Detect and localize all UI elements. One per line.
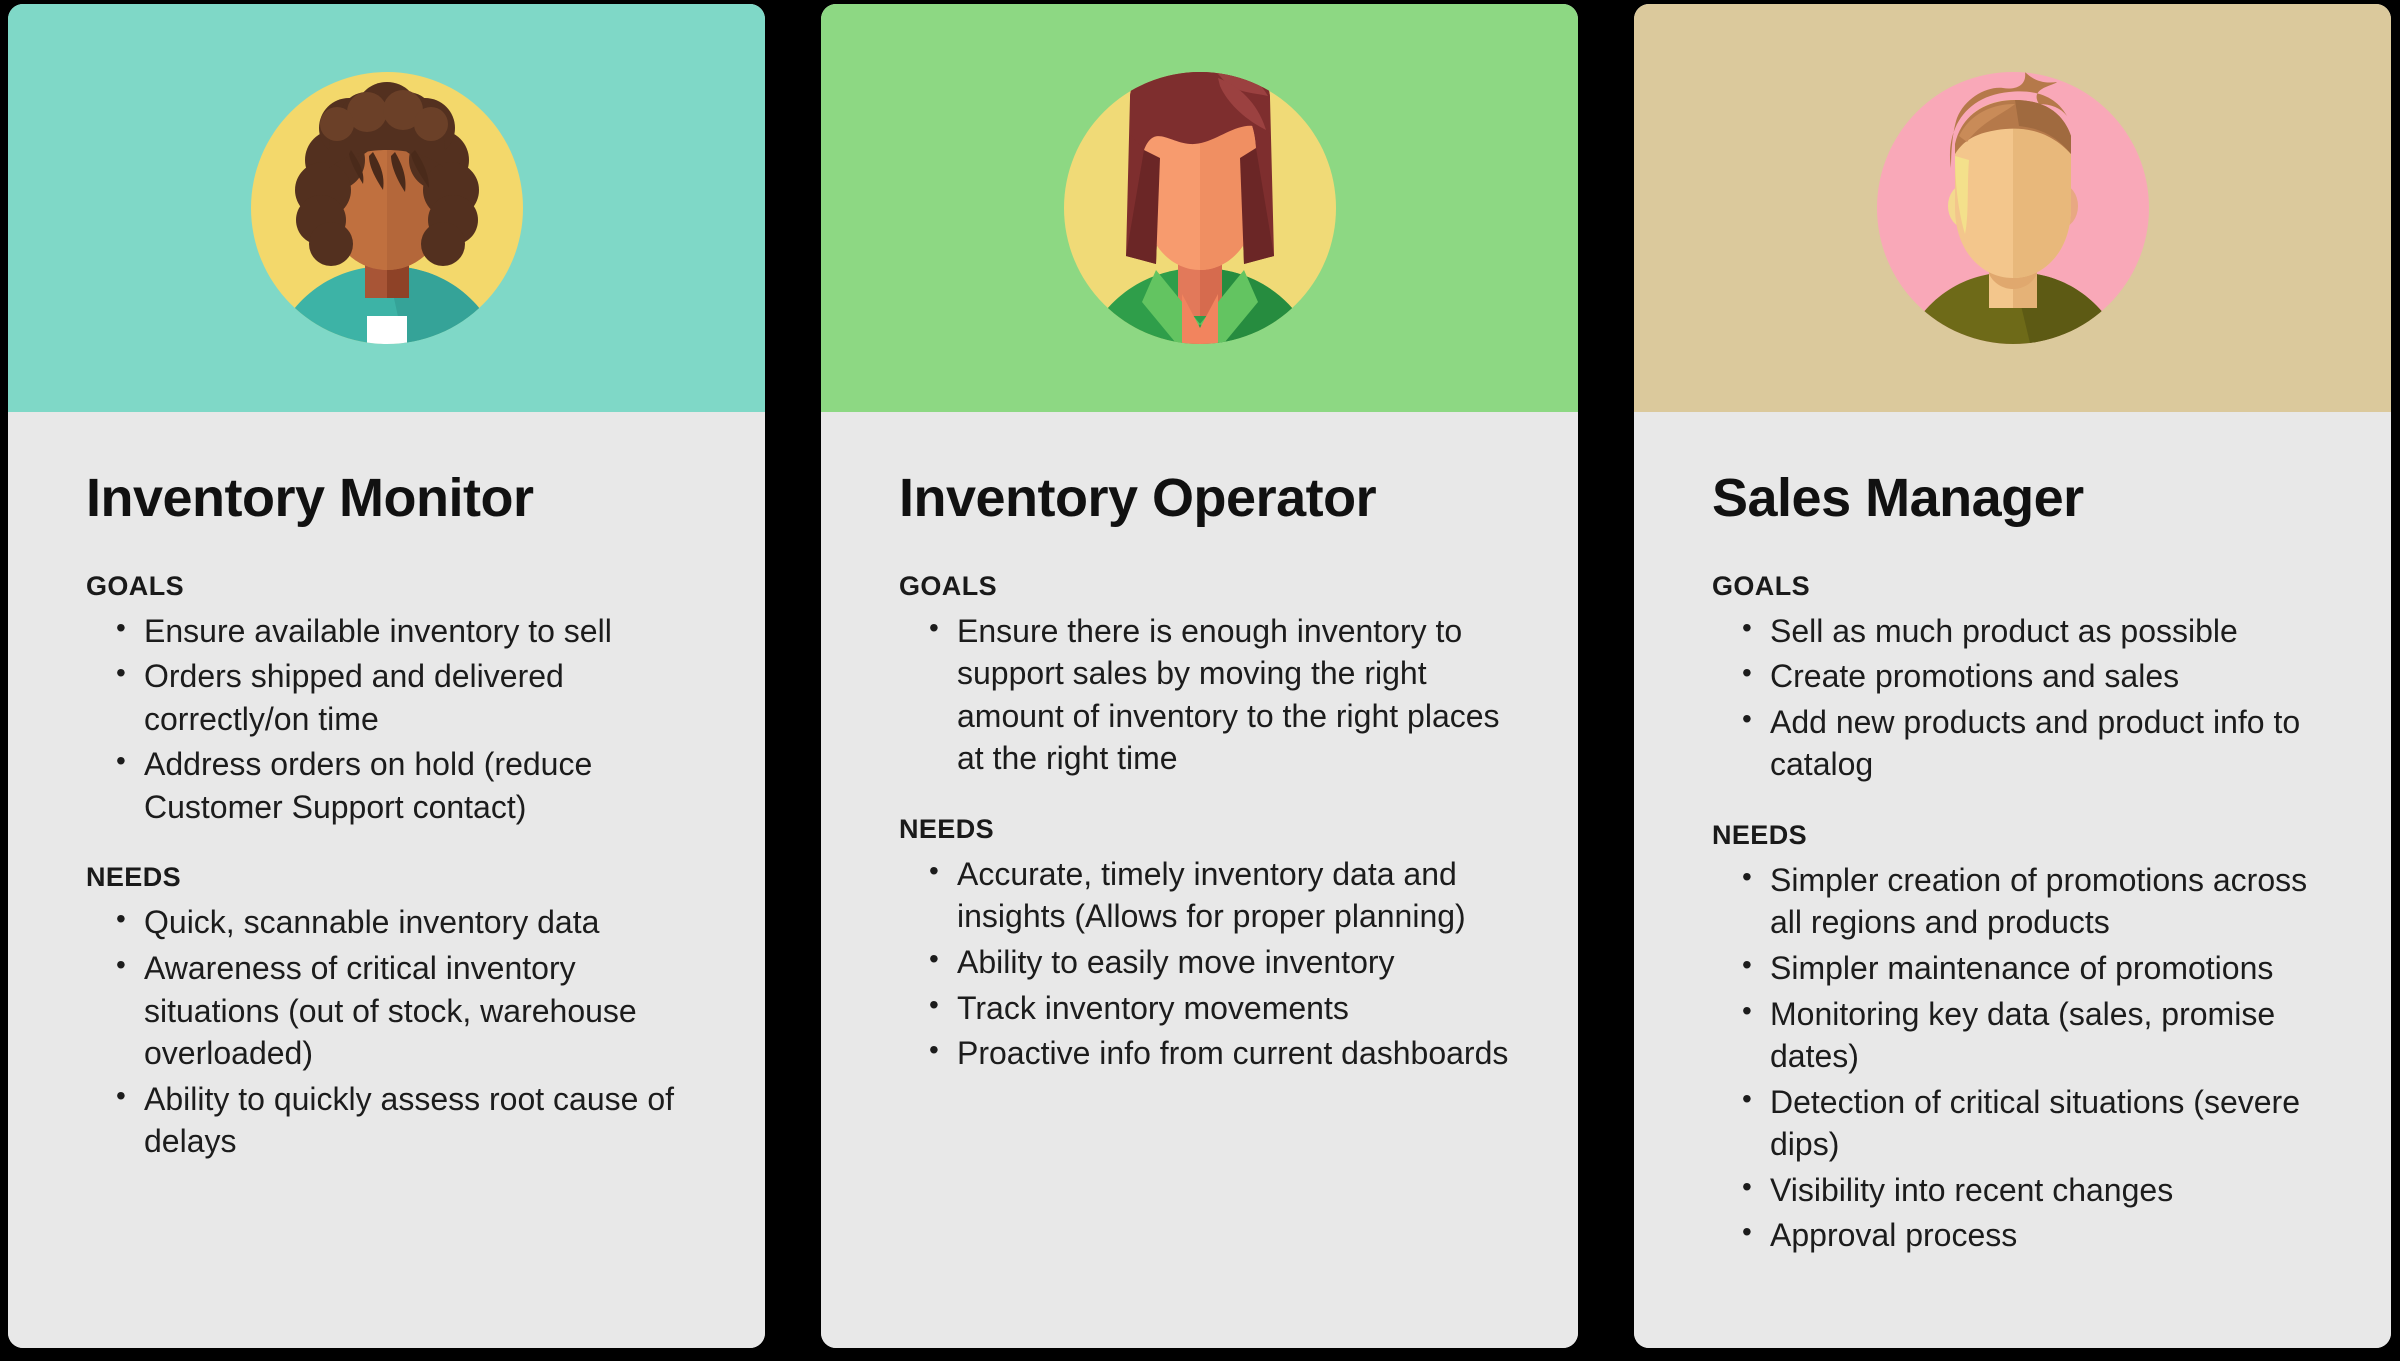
section-label-needs: NEEDS	[899, 814, 1516, 845]
list-item: Ensure there is enough inventory to supp…	[929, 610, 1516, 780]
list-item: Monitoring key data (sales, promise date…	[1742, 993, 2329, 1078]
card-body-inventory-monitor: Inventory Monitor GOALS Ensure available…	[8, 412, 765, 1348]
goals-list: Ensure there is enough inventory to supp…	[899, 610, 1516, 780]
list-item: Simpler creation of promotions across al…	[1742, 859, 2329, 944]
card-body-inventory-operator: Inventory Operator GOALS Ensure there is…	[821, 412, 1578, 1348]
persona-card-sales-manager[interactable]: Sales Manager GOALS Sell as much product…	[1634, 4, 2391, 1348]
avatar-woman-bob-hair-icon	[1030, 38, 1370, 378]
card-body-sales-manager: Sales Manager GOALS Sell as much product…	[1634, 412, 2391, 1348]
list-item: Visibility into recent changes	[1742, 1169, 2329, 1212]
section-needs: NEEDS Quick, scannable inventory data Aw…	[86, 862, 703, 1162]
list-item: Approval process	[1742, 1214, 2329, 1257]
section-label-goals: GOALS	[1712, 571, 2329, 602]
needs-list: Simpler creation of promotions across al…	[1712, 859, 2329, 1257]
list-item: Address orders on hold (reduce Customer …	[116, 743, 703, 828]
section-goals: GOALS Ensure available inventory to sell…	[86, 571, 703, 829]
list-item: Sell as much product as possible	[1742, 610, 2329, 653]
persona-card-inventory-operator[interactable]: Inventory Operator GOALS Ensure there is…	[821, 4, 1578, 1348]
card-header-inventory-operator	[821, 4, 1578, 412]
card-header-sales-manager	[1634, 4, 2391, 412]
avatar-woman-curly-hair-icon	[217, 38, 557, 378]
card-header-inventory-monitor	[8, 4, 765, 412]
list-item: Accurate, timely inventory data and insi…	[929, 853, 1516, 938]
section-label-goals: GOALS	[86, 571, 703, 602]
list-item: Simpler maintenance of promotions	[1742, 947, 2329, 990]
list-item: Orders shipped and delivered correctly/o…	[116, 655, 703, 740]
list-item: Ensure available inventory to sell	[116, 610, 703, 653]
page-title: Sales Manager	[1712, 470, 2329, 527]
list-item: Awareness of critical inventory situatio…	[116, 947, 703, 1075]
section-goals: GOALS Sell as much product as possible C…	[1712, 571, 2329, 786]
needs-list: Quick, scannable inventory data Awarenes…	[86, 901, 703, 1162]
list-item: Track inventory movements	[929, 987, 1516, 1030]
section-goals: GOALS Ensure there is enough inventory t…	[899, 571, 1516, 780]
list-item: Quick, scannable inventory data	[116, 901, 703, 944]
list-item: Ability to easily move inventory	[929, 941, 1516, 984]
list-item: Detection of critical situations (severe…	[1742, 1081, 2329, 1166]
section-needs: NEEDS Simpler creation of promotions acr…	[1712, 820, 2329, 1257]
avatar-man-short-hair-icon	[1843, 38, 2183, 378]
persona-card-board: Inventory Monitor GOALS Ensure available…	[0, 0, 2400, 1361]
goals-list: Ensure available inventory to sell Order…	[86, 610, 703, 829]
persona-card-inventory-monitor[interactable]: Inventory Monitor GOALS Ensure available…	[8, 4, 765, 1348]
goals-list: Sell as much product as possible Create …	[1712, 610, 2329, 786]
list-item: Ability to quickly assess root cause of …	[116, 1078, 703, 1163]
page-title: Inventory Operator	[899, 470, 1516, 527]
page-title: Inventory Monitor	[86, 470, 703, 527]
needs-list: Accurate, timely inventory data and insi…	[899, 853, 1516, 1075]
section-label-goals: GOALS	[899, 571, 1516, 602]
section-label-needs: NEEDS	[86, 862, 703, 893]
list-item: Create promotions and sales	[1742, 655, 2329, 698]
list-item: Proactive info from current dashboards	[929, 1032, 1516, 1075]
section-label-needs: NEEDS	[1712, 820, 2329, 851]
list-item: Add new products and product info to cat…	[1742, 701, 2329, 786]
section-needs: NEEDS Accurate, timely inventory data an…	[899, 814, 1516, 1075]
